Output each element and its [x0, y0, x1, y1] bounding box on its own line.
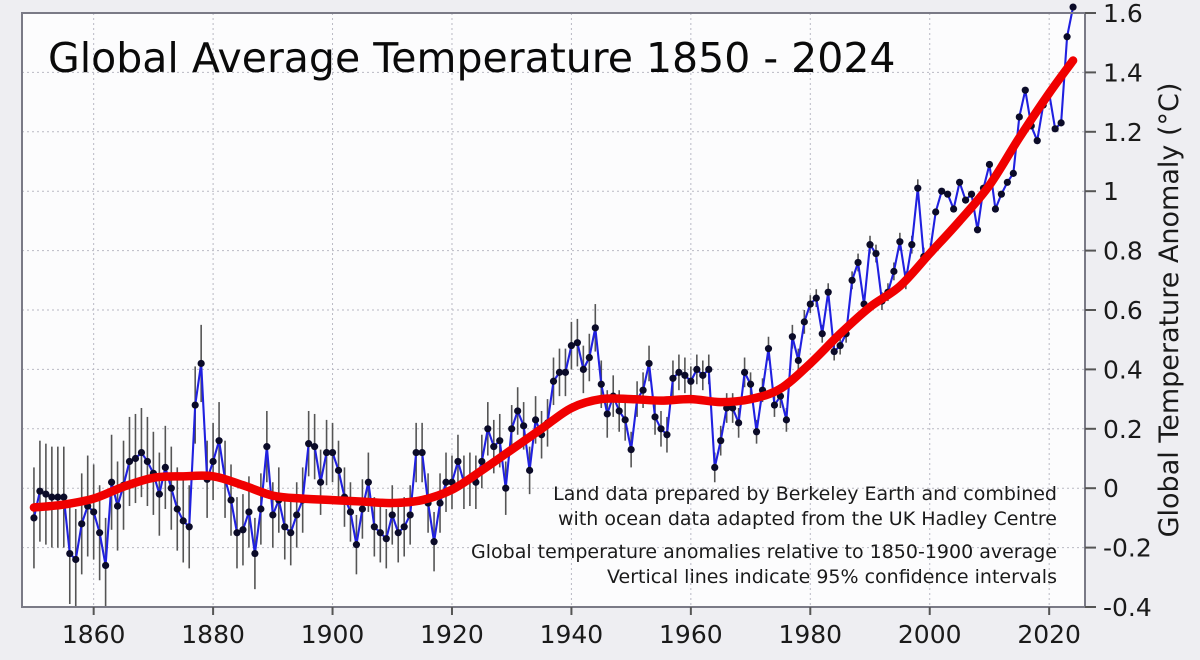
data-point: [848, 277, 855, 284]
global-temperature-anomaly-chart: 186018801900192019401960198020002020-0.4…: [0, 0, 1200, 660]
data-point: [162, 464, 169, 471]
data-point: [311, 443, 318, 450]
data-point: [96, 529, 103, 536]
x-axis-tick-label: 1880: [181, 620, 245, 649]
data-point: [1058, 119, 1065, 126]
annotation-baseline: Global temperature anomalies relative to…: [471, 541, 1057, 563]
x-axis-tick-label: 1920: [420, 620, 484, 649]
data-point: [186, 523, 193, 530]
data-point: [347, 508, 354, 515]
data-point: [245, 508, 252, 515]
y-axis-tick-label: -0.2: [1103, 534, 1152, 563]
data-point: [687, 378, 694, 385]
x-axis-tick-label: 1960: [659, 620, 723, 649]
data-point: [932, 208, 939, 215]
data-point: [287, 529, 294, 536]
data-point: [198, 360, 205, 367]
data-point: [705, 366, 712, 373]
data-point: [496, 437, 503, 444]
data-point: [854, 259, 861, 266]
data-point: [622, 416, 629, 423]
y-axis-tick-label: 0.6: [1103, 296, 1143, 325]
y-axis-title: Global Temperature Anomaly (°C): [1154, 83, 1185, 538]
data-point: [526, 467, 533, 474]
data-point: [795, 357, 802, 364]
data-point: [335, 467, 342, 474]
data-point: [60, 494, 67, 501]
annotation-source-line-2: with ocean data adapted from the UK Hadl…: [558, 508, 1057, 530]
y-axis-tick-label: 1.6: [1103, 0, 1143, 28]
data-point: [998, 191, 1005, 198]
data-point: [783, 416, 790, 423]
data-point: [395, 529, 402, 536]
data-point: [1052, 125, 1059, 132]
data-point: [765, 345, 772, 352]
data-point: [78, 520, 85, 527]
data-point: [908, 241, 915, 248]
data-point: [114, 502, 121, 509]
data-point: [628, 446, 635, 453]
y-axis-tick-label: 1.4: [1103, 58, 1143, 87]
data-point: [430, 538, 437, 545]
data-point: [657, 425, 664, 432]
data-point: [699, 372, 706, 379]
data-point: [651, 413, 658, 420]
data-point: [950, 205, 957, 212]
data-point: [156, 491, 163, 498]
chart-container: 186018801900192019401960198020002020-0.4…: [0, 0, 1200, 660]
data-point: [747, 381, 754, 388]
data-point: [974, 226, 981, 233]
x-axis-tick-label: 1940: [540, 620, 604, 649]
y-axis-tick-label: 1.2: [1103, 118, 1143, 147]
data-point: [317, 479, 324, 486]
data-point: [353, 541, 360, 548]
data-point: [508, 425, 515, 432]
y-axis-tick-label: 0.2: [1103, 415, 1143, 444]
data-point: [72, 556, 79, 563]
data-point: [592, 324, 599, 331]
annotation-source-line-1: Land data prepared by Berkeley Earth and…: [553, 483, 1057, 505]
data-point: [753, 428, 760, 435]
data-point: [192, 401, 199, 408]
data-point: [180, 517, 187, 524]
x-axis-tick-label: 1980: [778, 620, 842, 649]
data-point: [30, 514, 37, 521]
data-point: [401, 523, 408, 530]
data-point: [944, 191, 951, 198]
data-point: [251, 550, 258, 557]
data-point: [896, 238, 903, 245]
data-point: [293, 511, 300, 518]
data-point: [329, 449, 336, 456]
data-point: [365, 479, 372, 486]
y-axis-tick-label: 0.4: [1103, 355, 1143, 384]
annotation-confidence: Vertical lines indicate 95% confidence i…: [607, 566, 1057, 588]
data-point: [872, 250, 879, 257]
data-point: [1022, 87, 1029, 94]
y-axis-tick-label: -0.4: [1103, 593, 1152, 622]
data-point: [502, 485, 509, 492]
data-point: [598, 381, 605, 388]
data-point: [377, 529, 384, 536]
data-point: [956, 179, 963, 186]
data-point: [484, 425, 491, 432]
data-point: [419, 449, 426, 456]
data-point: [717, 437, 724, 444]
data-point: [138, 449, 145, 456]
data-point: [866, 241, 873, 248]
data-point: [681, 372, 688, 379]
data-point: [132, 455, 139, 462]
data-point: [281, 523, 288, 530]
data-point: [263, 443, 270, 450]
data-point: [962, 197, 969, 204]
data-point: [771, 401, 778, 408]
data-point: [669, 375, 676, 382]
data-point: [1063, 33, 1070, 40]
data-point: [992, 205, 999, 212]
x-axis-tick-label: 1860: [62, 620, 126, 649]
y-axis-tick-label: 0: [1103, 474, 1119, 503]
data-point: [1034, 137, 1041, 144]
data-point: [257, 505, 264, 512]
data-point: [210, 458, 217, 465]
data-point: [663, 431, 670, 438]
data-point: [801, 318, 808, 325]
data-point: [741, 369, 748, 376]
data-point: [645, 360, 652, 367]
data-point: [108, 479, 115, 486]
data-point: [514, 407, 521, 414]
data-point: [90, 508, 97, 515]
data-point: [693, 366, 700, 373]
data-point: [454, 458, 461, 465]
data-point: [711, 464, 718, 471]
x-axis-tick-label: 2020: [1017, 620, 1081, 649]
data-point: [269, 511, 276, 518]
data-point: [407, 511, 414, 518]
data-point: [371, 523, 378, 530]
data-point: [215, 437, 222, 444]
y-axis-tick-label: 1: [1103, 177, 1119, 206]
data-point: [968, 191, 975, 198]
data-point: [735, 419, 742, 426]
data-point: [102, 562, 109, 569]
data-point: [239, 526, 246, 533]
data-point: [1016, 113, 1023, 120]
y-axis-tick-label: 0.8: [1103, 237, 1143, 266]
data-point: [550, 378, 557, 385]
data-point: [580, 366, 587, 373]
data-point: [144, 458, 151, 465]
data-point: [389, 511, 396, 518]
data-point: [1069, 3, 1076, 10]
chart-title: Global Average Temperature 1850 - 2024: [48, 34, 896, 82]
data-point: [168, 485, 175, 492]
data-point: [1010, 170, 1017, 177]
data-point: [586, 354, 593, 361]
data-point: [1004, 179, 1011, 186]
data-point: [914, 185, 921, 192]
data-point: [604, 410, 611, 417]
x-axis-tick-label: 1900: [301, 620, 365, 649]
data-point: [227, 496, 234, 503]
data-point: [825, 289, 832, 296]
data-point: [837, 342, 844, 349]
data-point: [831, 348, 838, 355]
data-point: [436, 499, 443, 506]
data-point: [66, 550, 73, 557]
data-point: [789, 333, 796, 340]
data-point: [574, 339, 581, 346]
data-point: [986, 161, 993, 168]
data-point: [813, 295, 820, 302]
data-point: [616, 407, 623, 414]
data-point: [562, 369, 569, 376]
data-point: [383, 535, 390, 542]
data-point: [639, 387, 646, 394]
x-axis-tick-label: 2000: [898, 620, 962, 649]
data-point: [532, 416, 539, 423]
data-point: [807, 300, 814, 307]
data-point: [819, 330, 826, 337]
data-point: [520, 422, 527, 429]
data-point: [890, 268, 897, 275]
data-point: [174, 505, 181, 512]
data-point: [490, 443, 497, 450]
data-point: [359, 505, 366, 512]
